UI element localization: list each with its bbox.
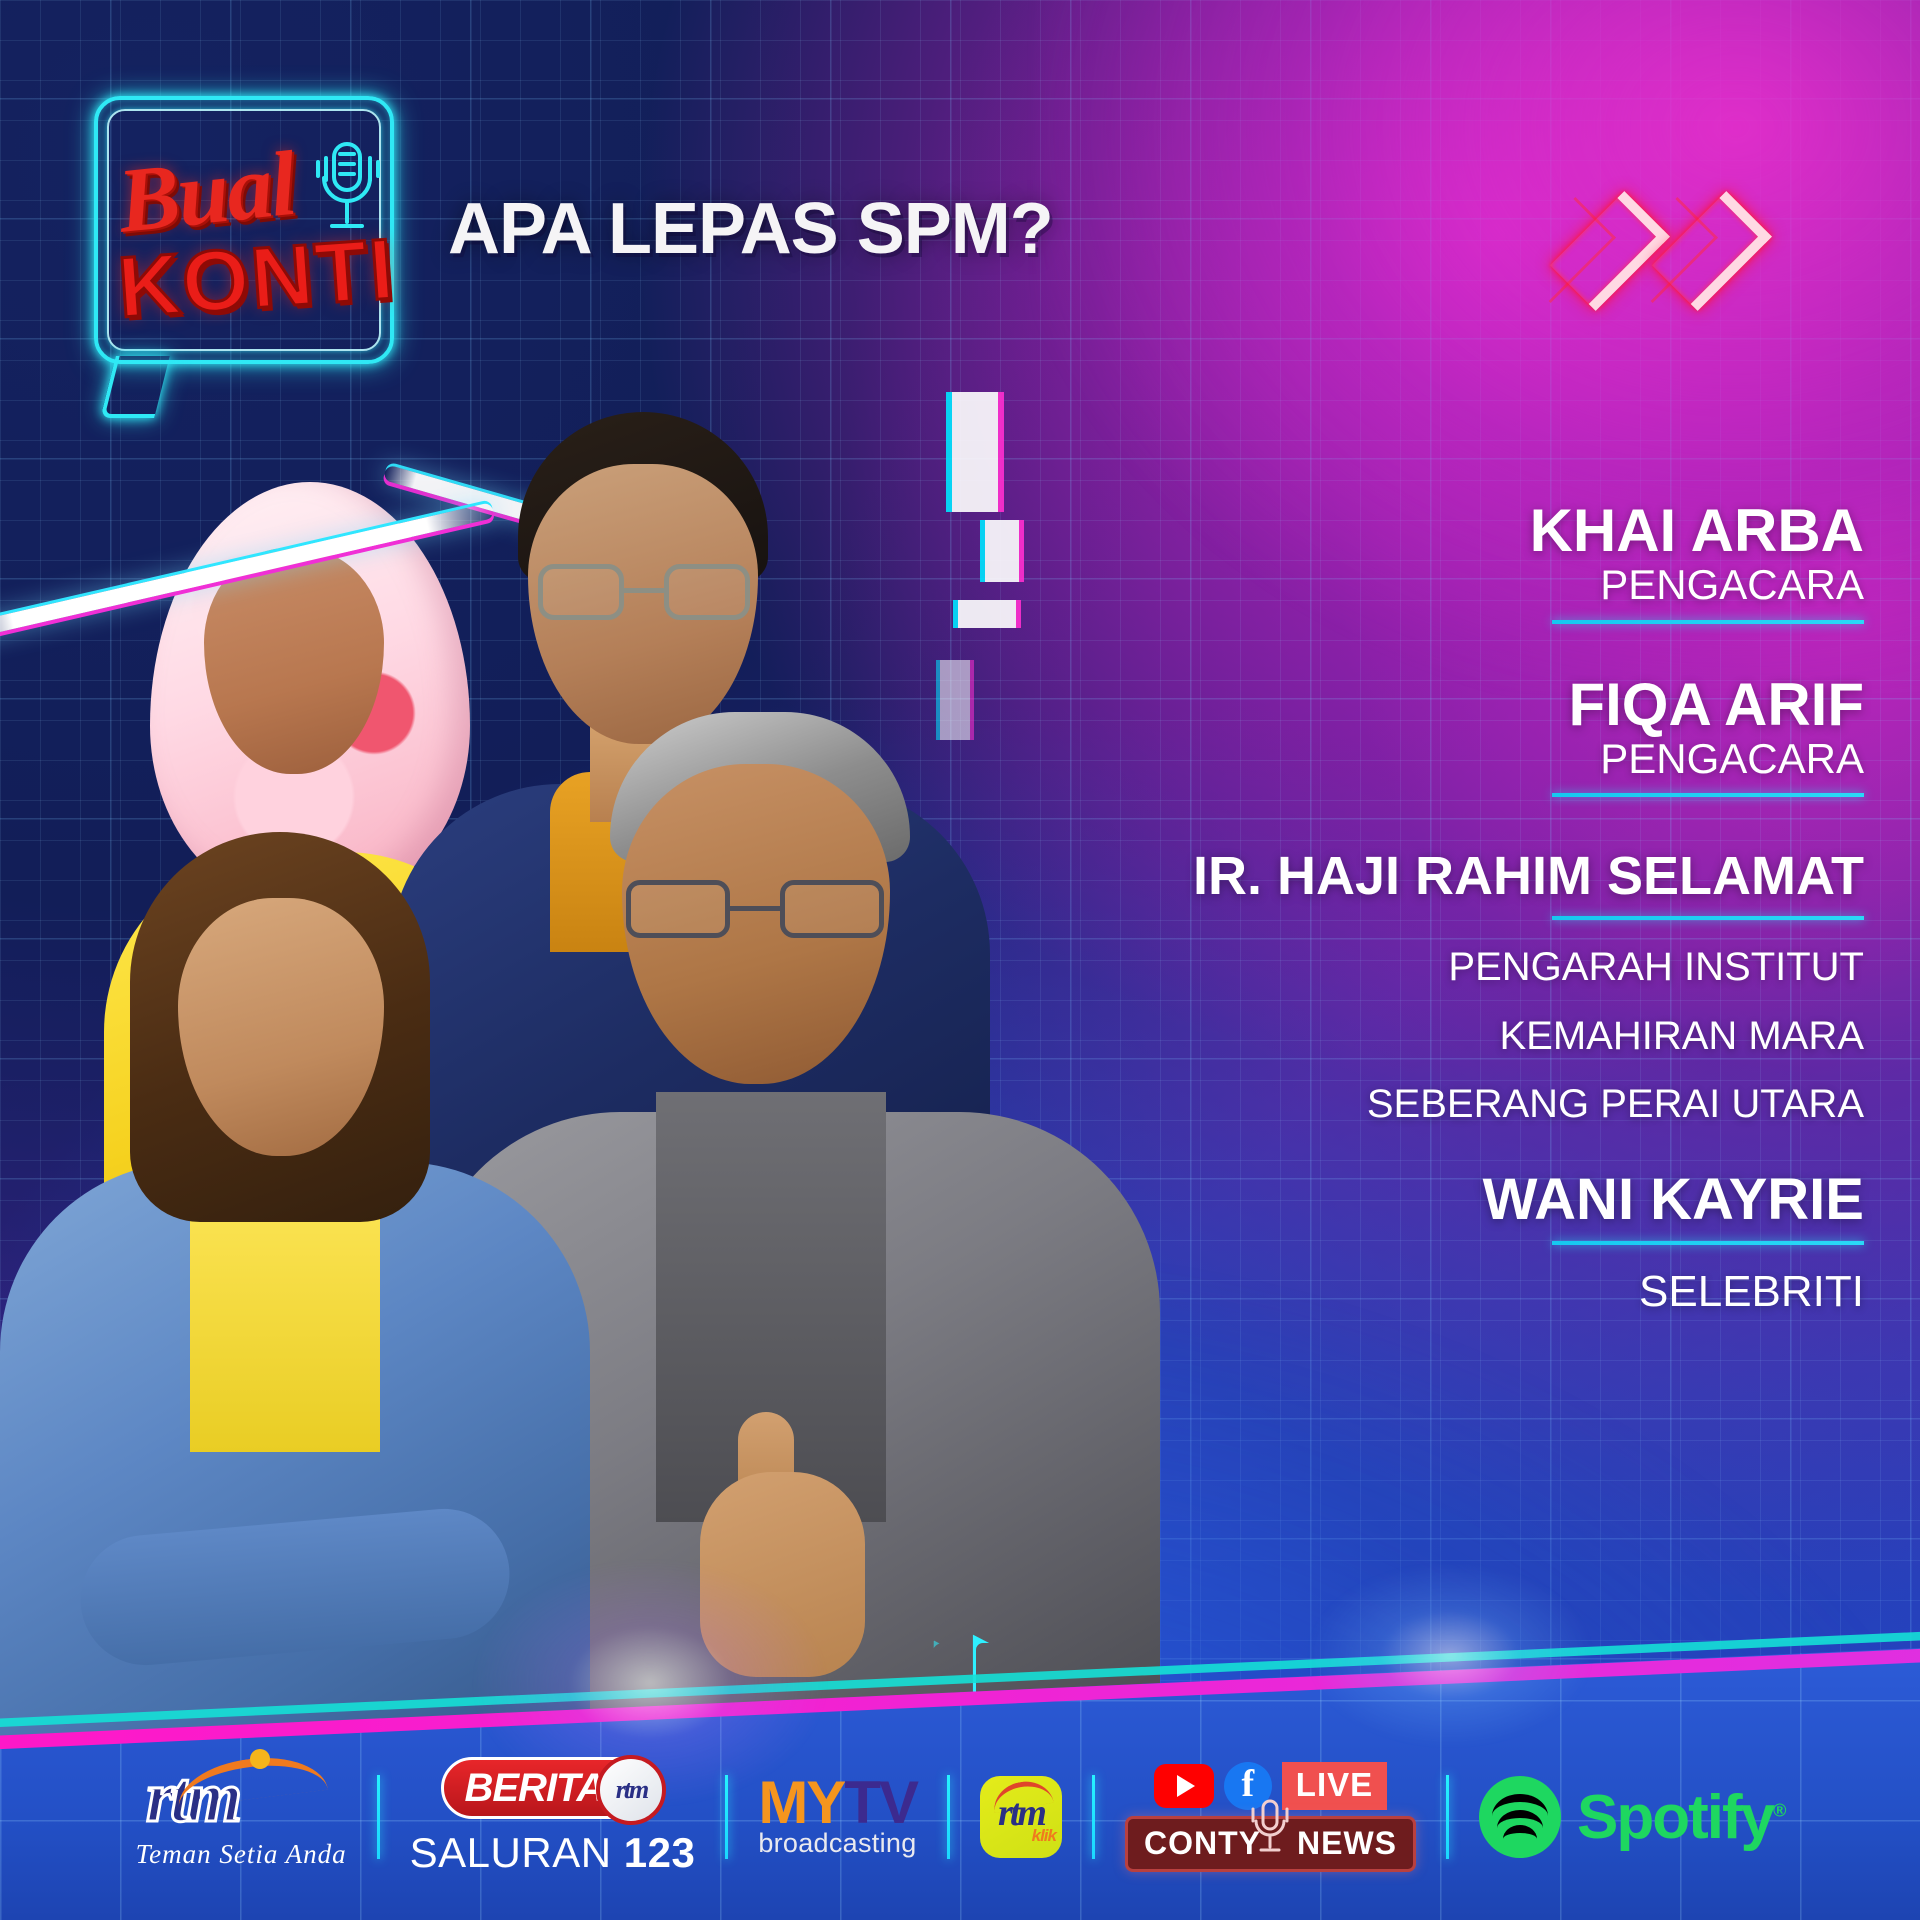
guest-role-line-2: KEMAHIRAN MARA [1034, 1015, 1864, 1057]
klik-suffix: klik [1032, 1826, 1056, 1846]
mytv-tv: TV [844, 1769, 917, 1836]
guest-role: PENGACARA [1034, 563, 1864, 608]
glitch-bar [940, 660, 970, 740]
channel-prefix: SALURAN [410, 1829, 612, 1876]
conty-word-right: NEWS [1297, 1825, 1397, 1862]
rtm-dot-icon [250, 1749, 270, 1769]
guest-entry-rahim-selamat: IR. HAJI RAHIM SELAMAT PENGARAH INSTITUT… [1034, 849, 1864, 1125]
divider [1092, 1775, 1095, 1859]
berita-pill: BERITA rtm [441, 1757, 663, 1819]
guest-entry-khai-arba: KHAI ARBA PENGACARA [1034, 500, 1864, 624]
logo-rtm-klik[interactable]: rtm klik [954, 1776, 1088, 1858]
mytv-subtitle: broadcasting [758, 1828, 916, 1859]
guest-entry-wani-kayrie: WANI KAYRIE SELEBRITI [1034, 1170, 1864, 1316]
live-badge: LIVE [1282, 1762, 1387, 1810]
glitch-bar [952, 392, 998, 512]
logo-rtm[interactable]: rtm Teman Setia Anda [110, 1765, 373, 1870]
guest-role-line-3: SEBERANG PERAI UTARA [1034, 1083, 1864, 1125]
mytv-mark: MYTV broadcasting [758, 1776, 917, 1859]
guest-name: WANI KAYRIE [1034, 1170, 1864, 1229]
poster-canvas: Bual KONTI APA LEPAS SPM? [0, 0, 1920, 1920]
guest-role: PENGACARA [1034, 737, 1864, 782]
page-title: APA LEPAS SPM? [448, 188, 1053, 270]
chevron-neon [1564, 176, 1656, 326]
rtm-klik-tile: rtm klik [980, 1776, 1062, 1858]
klik-arc-icon [990, 1777, 1054, 1813]
logo-social-group[interactable]: f LIVE CONTY NEWS [1099, 1762, 1442, 1872]
divider [947, 1775, 950, 1859]
rtm-tagline: Teman Setia Anda [136, 1839, 347, 1870]
guest-name: IR. HAJI RAHIM SELAMAT [1034, 849, 1864, 904]
divider [1552, 620, 1864, 624]
microphone-icon [312, 138, 382, 246]
guest-list: KHAI ARBA PENGACARA FIQA ARIF PENGACARA … [1034, 500, 1864, 1321]
berita-label: BERITA [464, 1766, 604, 1811]
divider [1552, 916, 1864, 920]
mytv-my: MY [758, 1769, 844, 1836]
footer-lens-flare-2 [1310, 1565, 1590, 1745]
spotify-icon [1479, 1776, 1561, 1858]
berita-rtm-badge: rtm [596, 1755, 666, 1825]
eyeglasses-icon [626, 880, 884, 938]
glitch-bar [958, 600, 1016, 628]
mytv-wordmark: MYTV [758, 1776, 917, 1830]
guest-role-line-1: PENGARAH INSTITUT [1034, 946, 1864, 988]
logo-mytv[interactable]: MYTV broadcasting [732, 1776, 943, 1859]
divider [1446, 1775, 1449, 1859]
chevron-neon [1666, 176, 1758, 326]
spotify-mark: Spotify® [1479, 1776, 1784, 1858]
guest-name: FIQA ARIF [1034, 674, 1864, 735]
divider [1552, 1241, 1864, 1245]
partner-logo-strip: rtm Teman Setia Anda BERITA rtm SALURAN … [0, 1742, 1920, 1892]
guest-role: SELEBRITI [1034, 1269, 1864, 1316]
guest-entry-fiqa-arif: FIQA ARIF PENGACARA [1034, 674, 1864, 798]
glitch-bar [985, 520, 1019, 582]
spotify-wordmark: Spotify® [1577, 1782, 1784, 1853]
conty-word-left: CONTY [1144, 1825, 1261, 1862]
channel-number: 123 [624, 1829, 696, 1876]
eyeglasses-icon [538, 564, 750, 620]
berita-badge-text: rtm [616, 1775, 648, 1805]
program-logo: Bual KONTI [94, 96, 394, 364]
conty-news-logo[interactable]: CONTY NEWS [1125, 1816, 1416, 1872]
divider [725, 1775, 728, 1859]
divider [377, 1775, 380, 1859]
logo-berita-rtm[interactable]: BERITA rtm SALURAN 123 [384, 1757, 722, 1877]
rtm-mark: rtm [146, 1765, 336, 1841]
double-chevron-right-icon [1558, 176, 1808, 326]
divider [1552, 793, 1864, 797]
microphone-icon [1250, 1797, 1290, 1859]
guest-name: KHAI ARBA [1034, 500, 1864, 561]
spotify-trademark: ® [1773, 1800, 1784, 1820]
spotify-label: Spotify [1577, 1783, 1773, 1852]
youtube-icon[interactable] [1154, 1764, 1214, 1808]
logo-spotify[interactable]: Spotify® [1453, 1776, 1810, 1858]
channel-line: SALURAN 123 [410, 1829, 696, 1877]
